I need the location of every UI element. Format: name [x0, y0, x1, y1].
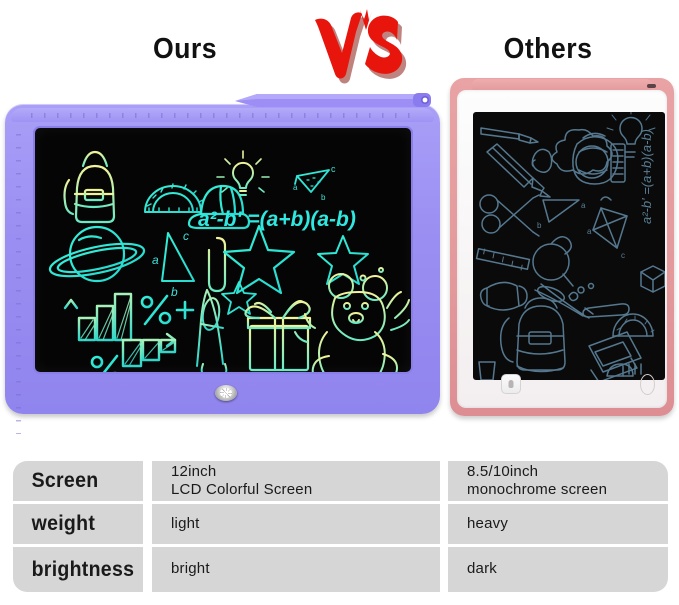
- label-text: brightness: [13, 557, 134, 583]
- table-cell-ours-weight: light: [152, 504, 440, 544]
- doodle-pencil: [487, 144, 550, 197]
- doodle-teddy-bear: [295, 268, 409, 372]
- doodle-hexagon: [641, 266, 665, 292]
- others-stylus-nib: [647, 84, 656, 88]
- comparison-graphic: Ours Others: [0, 0, 679, 605]
- doodle-scissors: [480, 195, 539, 236]
- doodle-protractor: [613, 314, 654, 336]
- ours-screen: c a b a²-b' =(a+b)(a-b): [35, 128, 411, 372]
- label-text: weight: [13, 511, 95, 537]
- value-text: bright: [152, 560, 210, 578]
- svg-text:b: b: [537, 221, 542, 230]
- svg-text:a: a: [152, 253, 159, 267]
- others-lock-toggle[interactable]: [640, 374, 655, 395]
- comparison-table: Screen 12inch LCD Colorful Screen 8.5/10…: [13, 461, 668, 592]
- doodle-equation-rotated: a²-b' =(a+b)(a-b): [639, 129, 654, 224]
- svg-text:a: a: [587, 227, 592, 236]
- table-row-label-brightness: brightness: [13, 547, 143, 592]
- table-row-label-weight: weight: [13, 504, 143, 544]
- doodle-paperclip: [583, 304, 629, 317]
- others-screen: a²-b' =(a+b)(a-b) a b: [473, 112, 665, 380]
- doodle-star-large: [224, 226, 294, 293]
- svg-text:a: a: [581, 201, 586, 210]
- others-tablet-bezel: a²-b' =(a+b)(a-b) a b: [457, 90, 667, 408]
- doodle-gift-box: [246, 301, 311, 370]
- table-row-label-screen: Screen: [13, 461, 143, 501]
- doodle-mask: [481, 282, 527, 310]
- doodle-kite-quadrilateral: a c: [587, 197, 627, 260]
- doodle-face-sketch: [532, 149, 551, 172]
- ours-power-button[interactable]: [215, 385, 237, 401]
- heading-ours: Ours: [125, 33, 245, 66]
- value-line1: 8.5/10inch: [467, 463, 538, 480]
- ours-ruler-marks-top: [31, 113, 414, 118]
- value-text: light: [152, 515, 200, 533]
- stylus-icon: [235, 92, 435, 108]
- table-cell-ours-screen: 12inch LCD Colorful Screen: [152, 461, 440, 501]
- value-text: dark: [448, 560, 497, 578]
- svg-text:a: a: [293, 183, 298, 192]
- svg-text:c: c: [331, 164, 336, 174]
- heading-others: Others: [484, 33, 613, 66]
- doodle-right-triangle: a c b: [152, 229, 194, 299]
- value-line1: 12inch: [171, 463, 216, 480]
- doodle-saturn-planet: [47, 227, 146, 283]
- doodle-pen: [481, 128, 538, 143]
- value-line2: LCD Colorful Screen: [171, 481, 312, 499]
- doodle-ruler: [477, 249, 530, 270]
- doodle-protractor: [145, 184, 203, 212]
- ours-tablet: c a b a²-b' =(a+b)(a-b): [5, 104, 440, 414]
- doodle-pennant-flag: c a b: [293, 164, 336, 202]
- doodle-backpack: [65, 152, 115, 222]
- doodle-percent-minus: [92, 356, 143, 372]
- table-cell-others-screen: 8.5/10inch monochrome screen: [448, 461, 668, 501]
- others-screen-doodles: a²-b' =(a+b)(a-b) a b: [473, 112, 665, 380]
- doodle-lightbulb: [217, 151, 269, 195]
- label-text: Screen: [13, 468, 98, 494]
- ours-ruler-marks-left: [16, 134, 21, 434]
- svg-text:c: c: [183, 229, 189, 243]
- value-text: heavy: [448, 515, 508, 533]
- svg-text:b: b: [171, 285, 178, 299]
- svg-text:b: b: [321, 193, 326, 202]
- vs-logo: [310, 8, 410, 88]
- others-home-button[interactable]: [501, 374, 521, 394]
- table-cell-others-weight: heavy: [448, 504, 668, 544]
- ours-stylus[interactable]: [235, 92, 435, 108]
- value-line2: monochrome screen: [467, 481, 607, 499]
- doodle-percent-plus: [142, 296, 193, 324]
- doodle-cloud: [552, 130, 612, 174]
- doodle-paperclip: [209, 238, 225, 291]
- table-cell-others-brightness: dark: [448, 547, 668, 592]
- doodle-magnifier: [533, 237, 573, 286]
- value-text: 8.5/10inch monochrome screen: [448, 463, 607, 500]
- doodle-equation: a²-b' =(a+b)(a-b): [198, 208, 356, 231]
- doodle-triangle: a b: [537, 200, 586, 230]
- svg-text:c: c: [621, 251, 625, 260]
- doodle-compass-dividers: [197, 290, 226, 372]
- table-cell-ours-brightness: bright: [152, 547, 440, 592]
- doodle-bucket: [479, 362, 495, 380]
- vs-logo-icon: [310, 8, 410, 88]
- doodle-radio: [573, 133, 625, 184]
- value-text: 12inch LCD Colorful Screen: [152, 463, 312, 500]
- ours-screen-doodles: c a b a²-b' =(a+b)(a-b): [35, 128, 411, 372]
- others-tablet: a²-b' =(a+b)(a-b) a b: [450, 78, 674, 416]
